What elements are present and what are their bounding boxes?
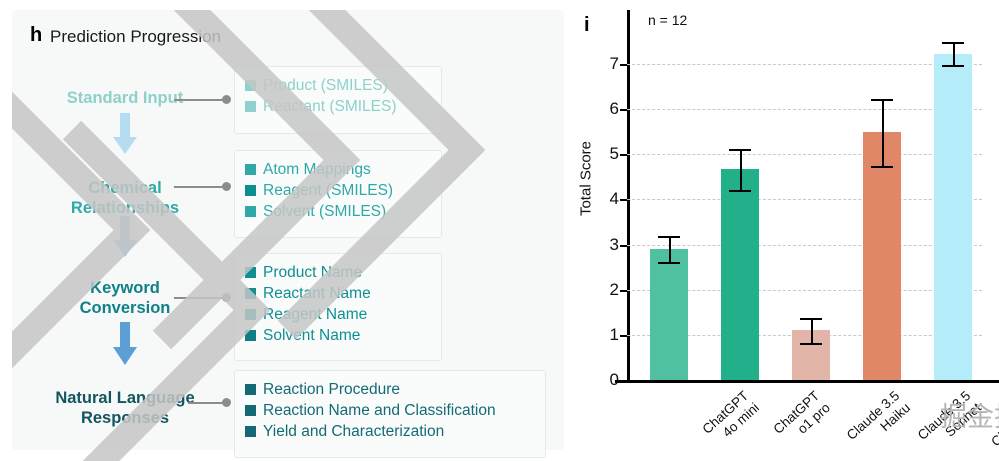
y-tick-mark xyxy=(620,380,627,382)
list-item-label: Reagent (SMILES) xyxy=(263,180,393,201)
y-axis-line xyxy=(627,10,630,380)
error-bar-cap xyxy=(871,99,893,101)
y-tick-mark xyxy=(620,199,627,201)
y-tick-mark xyxy=(620,154,627,156)
content-box-natural-language-responses: Reaction Procedure Reaction Name and Cla… xyxy=(234,370,546,458)
error-bar-cap xyxy=(800,318,822,320)
error-bar-stem xyxy=(669,236,671,261)
error-bar-stem xyxy=(953,42,955,65)
bullet-square-icon xyxy=(245,267,256,278)
connector-dot-4 xyxy=(222,398,231,407)
y-tick-mark xyxy=(620,245,627,247)
y-tick-mark xyxy=(620,109,627,111)
error-bar-cap xyxy=(942,42,964,44)
list-item-label: Product (SMILES) xyxy=(263,75,388,96)
error-bar-cap xyxy=(658,262,680,264)
list-item-label: Atom Mappings xyxy=(263,159,371,180)
list-item-label: Yield and Characterization xyxy=(263,421,444,442)
y-tick-label: 7 xyxy=(597,54,619,74)
y-axis-title: Total Score xyxy=(578,119,595,239)
list-item-label: Reaction Procedure xyxy=(263,379,400,400)
y-tick-label: 4 xyxy=(597,189,619,209)
bullet-square-icon xyxy=(245,206,256,217)
list-item: Reactant Name xyxy=(245,283,431,304)
y-tick-label: 2 xyxy=(597,280,619,300)
bullet-square-icon xyxy=(245,185,256,196)
connector-dot-3 xyxy=(222,293,231,302)
error-bar-stem xyxy=(740,149,742,191)
connector-dot-2 xyxy=(222,182,231,191)
error-bar-cap xyxy=(871,166,893,168)
x-tick-label: Claude 3.5 Haiku xyxy=(843,388,913,455)
gridline xyxy=(627,109,982,110)
list-item: Yield and Characterization xyxy=(245,421,535,442)
flow-arrow-1-icon xyxy=(112,113,138,155)
flow-stage-label: Standard Input xyxy=(67,89,183,107)
y-tick-mark xyxy=(620,290,627,292)
gridline xyxy=(627,154,982,155)
list-item: Solvent (SMILES) xyxy=(245,201,431,222)
gridline xyxy=(627,245,982,246)
panel-i-label: i xyxy=(584,14,590,37)
bar[interactable] xyxy=(650,249,688,380)
bar[interactable] xyxy=(721,169,759,380)
error-bar-cap xyxy=(729,190,751,192)
panel-i-total-score-chart: i n = 12 Total Score 01234567 ChatGPT 4o… xyxy=(570,0,999,461)
flow-stage-standard-input: Standard Input xyxy=(20,88,230,108)
list-item-label: Solvent Name xyxy=(263,325,360,346)
x-tick-label: Chem2SAIC xyxy=(988,388,999,450)
bullet-square-icon xyxy=(245,330,256,341)
bullet-square-icon xyxy=(245,101,256,112)
y-tick-label: 1 xyxy=(597,325,619,345)
bullet-square-icon xyxy=(245,164,256,175)
list-item: Product (SMILES) xyxy=(245,75,431,96)
x-tick-label: Claude 3.5 Sonnet xyxy=(914,388,984,455)
flow-arrow-2-icon xyxy=(112,216,138,258)
flow-stage-label: Keyword Conversion xyxy=(80,279,171,317)
list-item-label: Reagent Name xyxy=(263,304,367,325)
x-tick-label: ChatGPT 4o mini xyxy=(699,388,762,449)
content-box-standard-input: Product (SMILES) Reactant (SMILES) xyxy=(234,66,442,134)
x-tick-label: ChatGPT o1 pro xyxy=(770,388,833,449)
plot-area: 01234567 ChatGPT 4o miniChatGPT o1 proCl… xyxy=(627,28,982,380)
bullet-square-icon xyxy=(245,288,256,299)
error-bar-stem xyxy=(811,318,813,343)
bullet-square-icon xyxy=(245,80,256,91)
list-item: Reagent (SMILES) xyxy=(245,180,431,201)
list-item: Reagent Name xyxy=(245,304,431,325)
connector-line-1 xyxy=(174,99,226,101)
gridline xyxy=(627,199,982,200)
gridline xyxy=(627,64,982,65)
bullet-square-icon xyxy=(245,309,256,320)
y-tick-label: 0 xyxy=(597,370,619,390)
bullet-square-icon xyxy=(245,384,256,395)
flow-arrow-3-icon xyxy=(112,322,138,366)
y-tick-label: 5 xyxy=(597,144,619,164)
list-item-label: Reactant (SMILES) xyxy=(263,96,397,117)
figure-root: h Prediction Progression Standard Input … xyxy=(0,0,999,461)
y-tick-label: 6 xyxy=(597,99,619,119)
list-item-label: Reaction Name and Classification xyxy=(263,400,496,421)
list-item-label: Product Name xyxy=(263,262,362,283)
sample-size-annotation: n = 12 xyxy=(648,12,687,28)
error-bar-cap xyxy=(658,236,680,238)
bar[interactable] xyxy=(863,132,901,380)
flow-stage-chemical-relationships: Chemical Relationships xyxy=(20,158,230,218)
list-item: Atom Mappings xyxy=(245,159,431,180)
flow-stage-keyword-conversion: Keyword Conversion xyxy=(20,258,230,318)
list-item: Product Name xyxy=(245,262,431,283)
error-bar-cap xyxy=(800,343,822,345)
list-item: Reaction Name and Classification xyxy=(245,400,535,421)
content-box-chemical-relationships: Atom Mappings Reagent (SMILES) Solvent (… xyxy=(234,150,442,238)
error-bar-cap xyxy=(729,149,751,151)
connector-line-3 xyxy=(174,297,226,299)
panel-h-label: h xyxy=(30,24,42,47)
panel-h-title: Prediction Progression xyxy=(50,27,221,47)
list-item-label: Solvent (SMILES) xyxy=(263,201,386,222)
connector-dot-1 xyxy=(222,95,231,104)
content-box-keyword-conversion: Product Name Reactant Name Reagent Name … xyxy=(234,253,442,361)
panel-h-prediction-progression: h Prediction Progression Standard Input … xyxy=(12,10,564,450)
y-tick-mark xyxy=(620,64,627,66)
error-bar-cap xyxy=(942,65,964,67)
x-axis-line xyxy=(615,380,999,383)
list-item: Reaction Procedure xyxy=(245,379,535,400)
flow-stage-label: Chemical Relationships xyxy=(71,179,179,217)
list-item: Solvent Name xyxy=(245,325,431,346)
bar[interactable] xyxy=(934,54,972,380)
y-tick-mark xyxy=(620,335,627,337)
y-tick-label: 3 xyxy=(597,235,619,255)
flow-stage-natural-language-responses: Natural Language Responses xyxy=(20,368,230,428)
bullet-square-icon xyxy=(245,426,256,437)
connector-line-4 xyxy=(188,402,226,404)
bullet-square-icon xyxy=(245,405,256,416)
flow-stage-label: Natural Language Responses xyxy=(55,389,194,427)
connector-line-2 xyxy=(174,186,226,188)
list-item-label: Reactant Name xyxy=(263,283,371,304)
list-item: Reactant (SMILES) xyxy=(245,96,431,117)
error-bar-stem xyxy=(882,99,884,165)
